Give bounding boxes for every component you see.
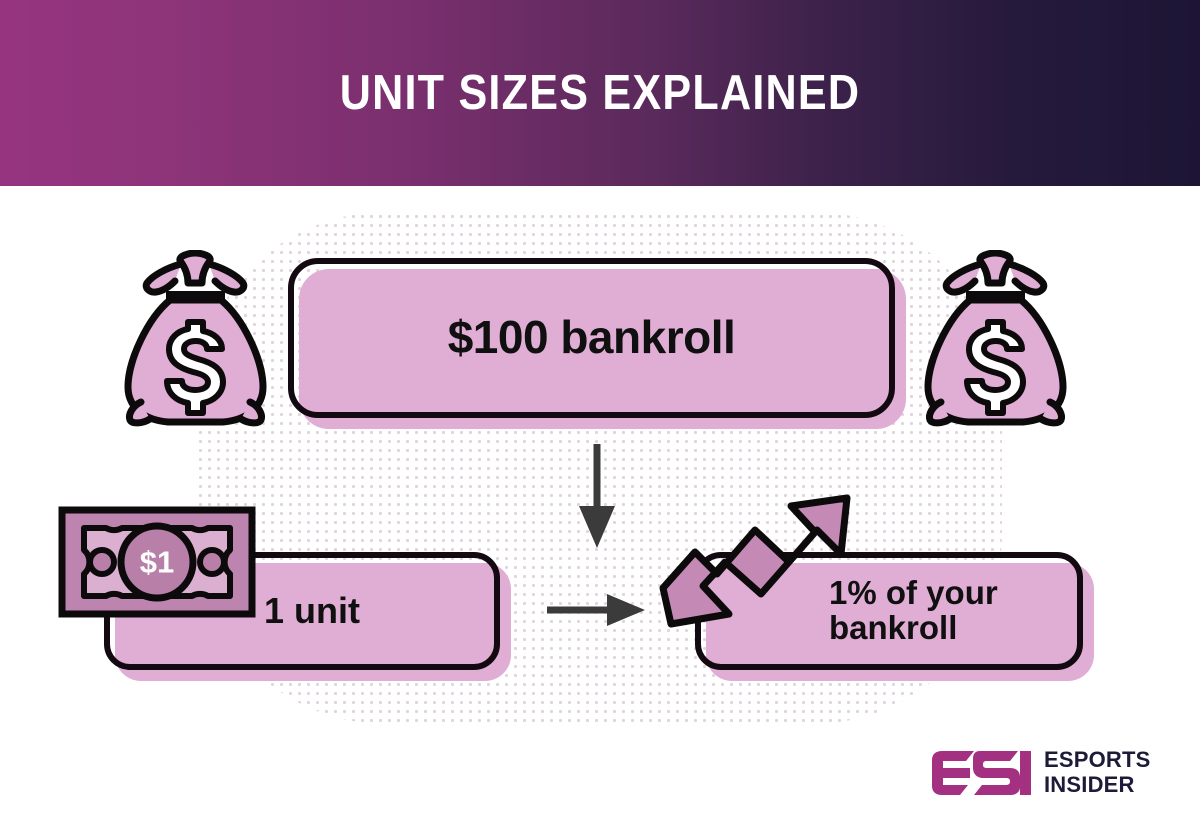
esi-monogram-icon: [928, 750, 1032, 796]
percent-box-line1: 1% of your: [829, 576, 998, 611]
bankroll-box: $100 bankroll: [288, 258, 895, 418]
esi-logo-line2: INSIDER: [1044, 773, 1151, 798]
bill-denomination-label: $1: [140, 545, 174, 580]
money-bag-icon: [918, 250, 1073, 430]
money-bag-icon: [118, 250, 273, 430]
bankroll-box-label: $100 bankroll: [288, 258, 895, 418]
dollar-bill-icon: $1: [58, 506, 256, 618]
esi-logo: ESPORTS INSIDER: [928, 744, 1168, 802]
esi-logo-wordmark: ESPORTS INSIDER: [1044, 748, 1151, 797]
arrow-right-icon: [547, 589, 647, 631]
arrow-down-icon: [562, 444, 632, 550]
esi-logo-line1: ESPORTS: [1044, 748, 1151, 773]
page-title: UNIT SIZES EXPLAINED: [72, 0, 1128, 186]
percent-box-line2: bankroll: [829, 611, 998, 646]
infographic-canvas: UNIT SIZES EXPLAINED: [0, 0, 1200, 823]
trending-up-arrow-icon: [655, 492, 851, 640]
